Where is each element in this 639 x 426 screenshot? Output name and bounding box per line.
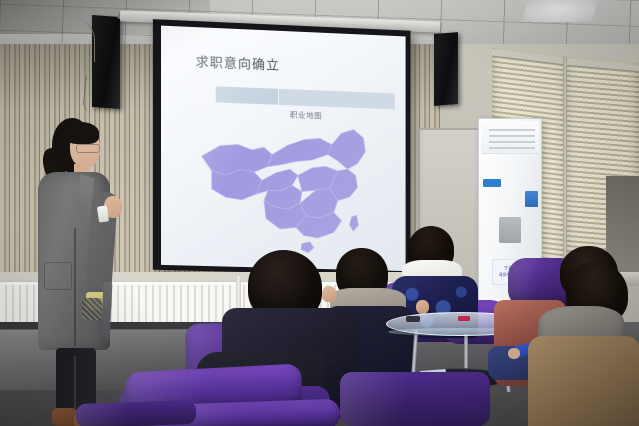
attendee-hand-right bbox=[416, 300, 429, 314]
slide-title: 求职意向确立 bbox=[196, 51, 280, 74]
table-object bbox=[406, 316, 420, 322]
sofa-front-right bbox=[340, 372, 490, 426]
presenter-coat-pocket bbox=[44, 262, 72, 290]
photo-scene: 空调机组 请保持关闭状态 求职意向确立 职业地图 bbox=[0, 0, 639, 426]
presenter bbox=[30, 112, 136, 426]
ac-energy-label bbox=[525, 191, 538, 207]
wall-speaker-right bbox=[434, 32, 458, 106]
presenter-glasses bbox=[76, 144, 100, 153]
presenter-leg-gap bbox=[74, 356, 76, 414]
presenter-knit-cuff bbox=[82, 298, 102, 320]
ceiling-light bbox=[522, 0, 598, 22]
presenter-strap bbox=[100, 282, 112, 340]
ac-brand-badge bbox=[483, 179, 501, 187]
presenter-coat-seam bbox=[74, 228, 76, 346]
table-red-object bbox=[458, 316, 470, 321]
screen-surface: 求职意向确立 职业地图 bbox=[161, 26, 406, 272]
sofa-bottom-left bbox=[76, 400, 197, 426]
presenter-hair-front bbox=[63, 122, 99, 144]
slide-bar-segment-right bbox=[279, 89, 395, 109]
attendee-hand bbox=[508, 348, 520, 359]
slide-bar-segment-left bbox=[216, 86, 279, 105]
slide-divider-bar bbox=[216, 86, 395, 109]
ac-vent-grille bbox=[481, 121, 539, 154]
window-mullion bbox=[563, 58, 567, 268]
ac-display-panel[interactable] bbox=[499, 217, 521, 243]
attendee-fur-collar bbox=[544, 262, 639, 426]
attendee-tan-coat bbox=[528, 336, 639, 426]
presentation-clicker[interactable] bbox=[97, 205, 109, 222]
china-map-graphic bbox=[179, 111, 395, 268]
projection-screen: 求职意向确立 职业地图 bbox=[153, 19, 411, 276]
